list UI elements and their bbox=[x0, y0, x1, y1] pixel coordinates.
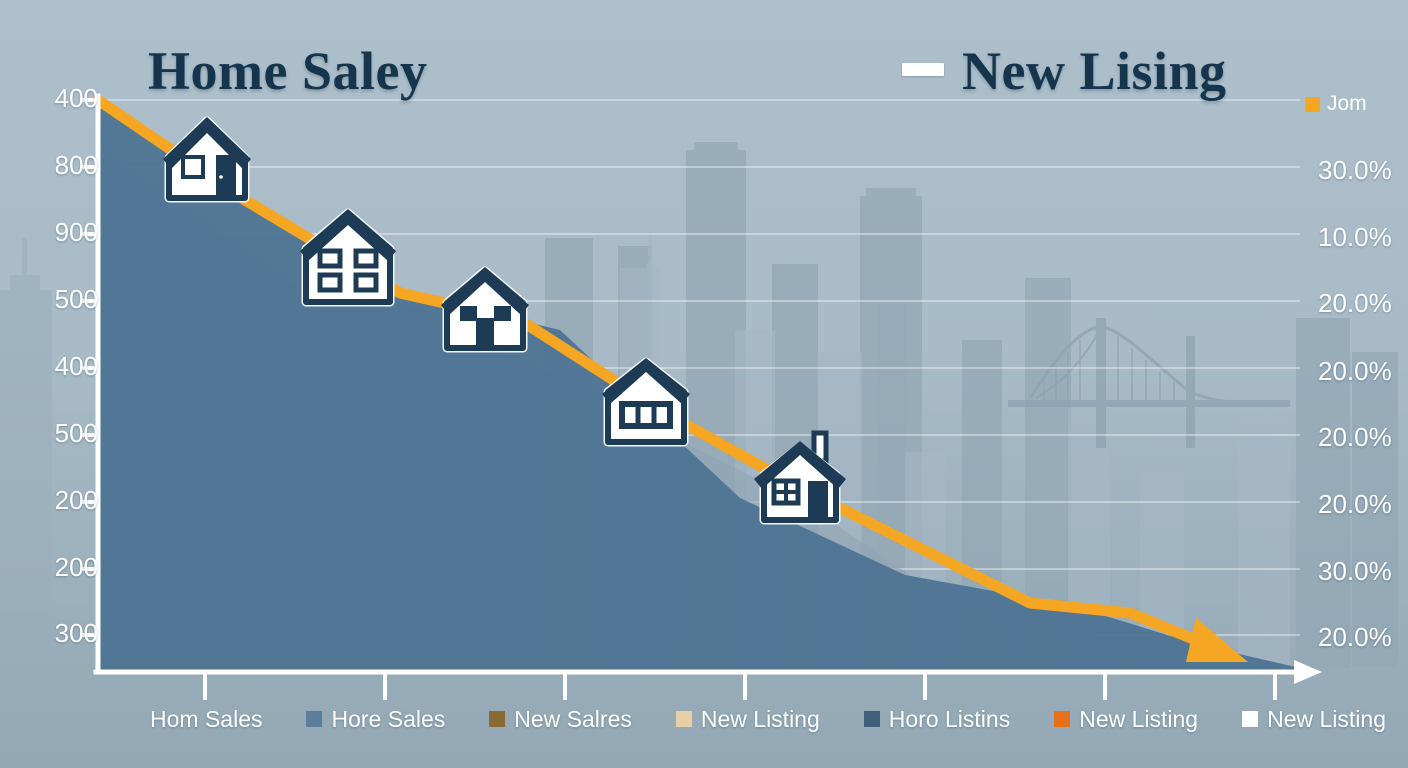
house-icon-5 bbox=[754, 433, 846, 520]
y-left-tick-4: 400 bbox=[55, 351, 98, 382]
legend-label-2: New Salres bbox=[514, 706, 632, 733]
legend-item-6[interactable]: New Listing bbox=[1242, 706, 1386, 733]
legend-item-1[interactable]: Hore Sales bbox=[306, 706, 445, 733]
legend-swatch-icon-6 bbox=[1242, 711, 1258, 727]
area-series-primary bbox=[98, 100, 1300, 672]
corner-legend-label: Jom bbox=[1327, 92, 1367, 116]
legend-item-2[interactable]: New Salres bbox=[489, 706, 632, 733]
corner-legend[interactable]: Jom bbox=[1305, 92, 1367, 116]
legend-swatch-icon-4 bbox=[864, 711, 880, 727]
legend-item-3[interactable]: New Listing bbox=[676, 706, 820, 733]
chart-canvas: Home Saley New Lising Jom 400 800 900 50… bbox=[0, 0, 1408, 768]
secondary-title: New Lising bbox=[962, 40, 1227, 102]
page-title: Home Saley bbox=[148, 40, 427, 102]
y-right-tick-3: 20.0% bbox=[1318, 356, 1392, 387]
legend-swatch-icon-2 bbox=[489, 711, 505, 727]
house-icon-4 bbox=[602, 358, 690, 442]
y-right-tick-6: 30.0% bbox=[1318, 556, 1392, 587]
y-left-tick-0: 400 bbox=[55, 83, 98, 114]
plot-layer bbox=[0, 0, 1408, 768]
corner-legend-swatch bbox=[1305, 97, 1320, 112]
y-left-tick-1: 800 bbox=[55, 150, 98, 181]
legend-swatch-icon-1 bbox=[306, 711, 322, 727]
y-left-tick-6: 200 bbox=[55, 485, 98, 516]
y-left-tick-2: 900 bbox=[55, 217, 98, 248]
x-axis-ticks bbox=[205, 672, 1275, 700]
house-icon-3 bbox=[441, 267, 529, 348]
legend-label-6: New Listing bbox=[1267, 706, 1386, 733]
y-left-tick-8: 300 bbox=[55, 618, 98, 649]
legend-item-5[interactable]: New Listing bbox=[1054, 706, 1198, 733]
legend-item-4[interactable]: Horo Listins bbox=[864, 706, 1010, 733]
house-icon-1 bbox=[163, 117, 251, 198]
chart-legend: Hom SalesHore SalesNew SalresNew Listing… bbox=[0, 702, 1408, 736]
y-left-tick-3: 500 bbox=[55, 284, 98, 315]
legend-swatch-icon-5 bbox=[1054, 711, 1070, 727]
y-right-tick-0: 30.0% bbox=[1318, 155, 1392, 186]
legend-label-3: New Listing bbox=[701, 706, 820, 733]
y-right-tick-1: 10.0% bbox=[1318, 222, 1392, 253]
legend-label-4: Horo Listins bbox=[889, 706, 1010, 733]
y-right-tick-5: 20.0% bbox=[1318, 489, 1392, 520]
legend-label-0: Hom Sales bbox=[150, 706, 262, 733]
x-axis-arrow-icon bbox=[1294, 660, 1322, 684]
white-dash-marker-icon bbox=[902, 63, 944, 76]
legend-item-0[interactable]: Hom Sales bbox=[150, 706, 262, 733]
legend-label-1: Hore Sales bbox=[331, 706, 445, 733]
legend-swatch-icon-3 bbox=[676, 711, 692, 727]
y-right-tick-7: 20.0% bbox=[1318, 622, 1392, 653]
house-icon-2 bbox=[300, 209, 396, 302]
y-left-tick-5: 500 bbox=[55, 418, 98, 449]
y-right-tick-2: 20.0% bbox=[1318, 288, 1392, 319]
legend-label-5: New Listing bbox=[1079, 706, 1198, 733]
y-left-tick-7: 200 bbox=[55, 552, 98, 583]
y-right-tick-4: 20.0% bbox=[1318, 422, 1392, 453]
line-arrowhead-icon bbox=[1186, 618, 1248, 662]
